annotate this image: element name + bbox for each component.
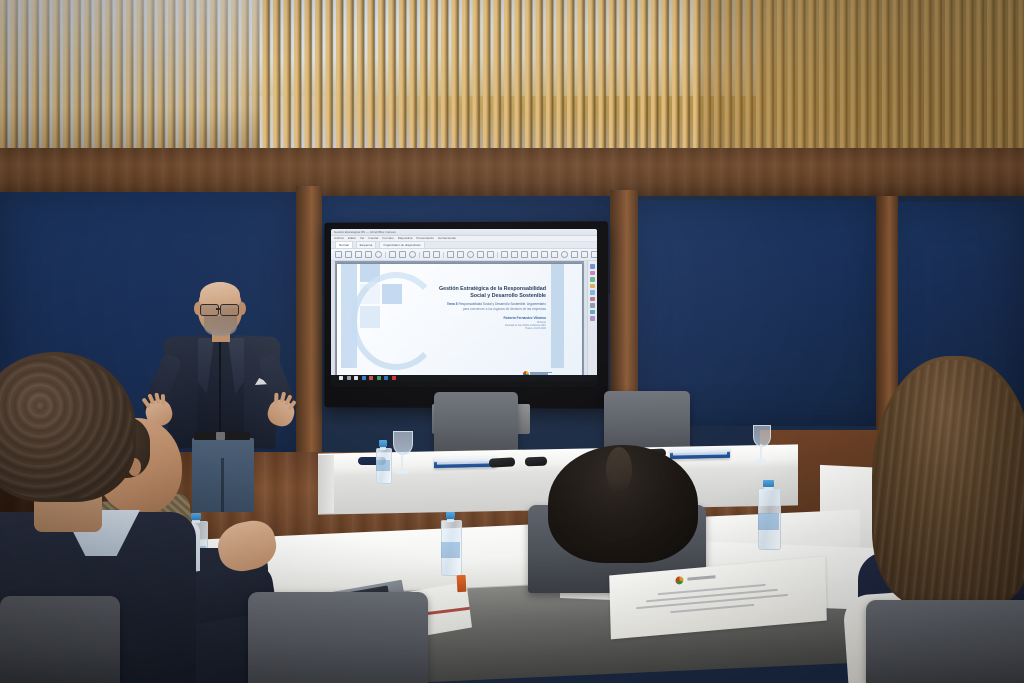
wine-glass-left: [392, 431, 412, 479]
view-tab-strip[interactable]: Normal Esquema Organizador de diapositiv…: [331, 242, 597, 249]
water-bottle-center: [441, 512, 460, 574]
presenter-ear-right: [238, 302, 246, 315]
menu-item-herramientas[interactable]: Herramientas: [438, 236, 456, 241]
cut-icon[interactable]: [389, 251, 396, 258]
chair-front-left: [248, 592, 428, 683]
water-bottle-right: [758, 480, 779, 548]
align-icon[interactable]: [571, 251, 578, 258]
bottle-cap: [446, 512, 456, 519]
arrange-icon[interactable]: [581, 251, 588, 258]
styles-icon[interactable]: [590, 290, 595, 295]
wood-grain-texture: [0, 148, 1024, 196]
name-plate-left: [434, 456, 496, 468]
print-preview-icon[interactable]: [375, 251, 382, 258]
shape-rectangle-icon[interactable]: [477, 251, 484, 258]
document-logo-text: [687, 575, 715, 580]
browser-icon[interactable]: [362, 376, 366, 380]
toolbar-separator-4: [497, 252, 498, 258]
save-icon[interactable]: [355, 251, 362, 258]
slide-subtitle-line1: Responsabilidad Social y Desarrollo Sost…: [458, 302, 546, 306]
print-icon[interactable]: [365, 251, 372, 258]
presenter-glasses-bridge: [216, 308, 221, 310]
panel-table-side: [318, 455, 334, 513]
window-title: Gestión Estratégica RS — LibreOffice Imp…: [334, 229, 396, 235]
slide-subtitle-line2: para convencer a los órganos de decisión…: [401, 307, 546, 312]
remote-control-1[interactable]: [489, 457, 515, 467]
slide-tema-label: Tema 8: [447, 302, 458, 306]
chair-front-right: [866, 600, 1024, 683]
current-slide[interactable]: Gestión Estratégica de la Responsabilida…: [337, 264, 582, 381]
impress-application-window[interactable]: Gestión Estratégica RS — LibreOffice Imp…: [331, 229, 597, 381]
tab-normal[interactable]: Normal: [335, 241, 353, 248]
insert-image-icon[interactable]: [457, 251, 464, 258]
pdf-icon[interactable]: [392, 376, 396, 380]
editing-area: Gestión Estratégica de la Responsabilida…: [331, 261, 597, 381]
master-slides-icon[interactable]: [590, 284, 595, 289]
fontwork-icon[interactable]: [531, 251, 538, 258]
wooden-slat-ceiling: [0, 0, 1024, 152]
toolbar-separator-2: [419, 252, 420, 258]
effects-icon[interactable]: [590, 316, 595, 321]
properties-icon[interactable]: [590, 264, 595, 269]
water-bottle-panel: [376, 440, 390, 482]
screen-display-area[interactable]: Gestión Estratégica RS — LibreOffice Imp…: [331, 229, 597, 387]
open-folder-icon[interactable]: [345, 251, 352, 258]
arrow-icon[interactable]: [501, 251, 508, 258]
presenter-glasses-right-lens: [220, 304, 239, 316]
file-explorer-icon[interactable]: [354, 376, 358, 380]
attendee-center: [548, 445, 698, 565]
tab-organizador[interactable]: Organizador de diapositivas: [379, 241, 424, 248]
glass-stem: [401, 452, 403, 471]
document-line-4: [670, 604, 754, 613]
table-icon[interactable]: [511, 251, 518, 258]
attendee-center-hair-part: [606, 447, 632, 493]
impress-sidebar[interactable]: [587, 261, 597, 381]
presenter-beard: [204, 316, 237, 336]
toolbar-separator-3: [443, 252, 444, 258]
shape-ellipse-icon[interactable]: [467, 251, 474, 258]
task-view-icon[interactable]: [347, 376, 351, 380]
glass-foot: [395, 470, 409, 474]
name-plate-left-text: [437, 461, 493, 465]
bottle-label: [758, 513, 778, 531]
glass-foot-2: [755, 459, 767, 463]
glass-bowl: [393, 431, 413, 455]
chart-icon[interactable]: [521, 251, 528, 258]
copy-icon[interactable]: [399, 251, 406, 258]
mail-icon[interactable]: [377, 376, 381, 380]
text-box-icon[interactable]: [447, 251, 454, 258]
attendee-right-hair-strands: [874, 360, 1024, 604]
tab-esquema[interactable]: Esquema: [356, 241, 377, 248]
redo-icon[interactable]: [433, 251, 440, 258]
slide-title-line1: Gestión Estratégica de la Responsabilida…: [401, 286, 546, 293]
main-toolbar[interactable]: [331, 249, 597, 261]
animation-icon[interactable]: [590, 277, 595, 282]
bottle-label: [441, 542, 459, 558]
chair-back-left: [434, 392, 518, 454]
slide-canvas[interactable]: Gestión Estratégica de la Responsabilida…: [335, 261, 584, 381]
presenter-glasses-left-lens: [200, 304, 219, 316]
wood-divider-1: [296, 186, 322, 476]
slide-title-line2: Social y Desarrollo Sostenible: [401, 293, 546, 300]
bottle-label: [376, 460, 389, 471]
chair-back-right: [604, 391, 690, 453]
toolbar-separator-1: [385, 252, 386, 258]
navigator-icon[interactable]: [590, 303, 595, 308]
chair-far-left: [0, 596, 120, 683]
os-taskbar[interactable]: [331, 375, 597, 381]
slide-text-block: Gestión Estratégica de la Responsabilida…: [401, 286, 546, 330]
slide-transition-icon[interactable]: [590, 271, 595, 276]
slide-date: Huelva, 04.03.2022: [401, 327, 546, 330]
remote-control-2[interactable]: [525, 457, 547, 467]
media-icon[interactable]: [369, 376, 373, 380]
fill-color-icon[interactable]: [551, 251, 558, 258]
gallery-icon[interactable]: [590, 297, 595, 302]
shapes-icon[interactable]: [590, 310, 595, 315]
slat-shadow-left: [0, 0, 260, 152]
shape-line-icon[interactable]: [487, 251, 494, 258]
paste-icon[interactable]: [409, 251, 416, 258]
wine-glass-right: [752, 425, 770, 467]
impress-icon[interactable]: [384, 376, 388, 380]
glass-bowl-2: [753, 425, 771, 447]
finger-r1: [274, 393, 278, 404]
bottle-cap: [763, 480, 774, 487]
new-document-icon[interactable]: [335, 251, 342, 258]
window-title-bar: Gestión Estratégica RS — LibreOffice Imp…: [331, 229, 597, 236]
bottle-cap: [379, 440, 386, 447]
undo-icon[interactable]: [423, 251, 430, 258]
slide-deco-band-right: [551, 264, 564, 368]
shadow-icon[interactable]: [561, 251, 568, 258]
line-color-icon[interactable]: [541, 251, 548, 258]
orange-marker: [457, 575, 467, 592]
glass-stem-2: [760, 444, 762, 460]
conference-room-photo: Gestión Estratégica RS — LibreOffice Imp…: [0, 0, 1024, 683]
start-slideshow-icon[interactable]: [591, 251, 597, 258]
slat-shadow-right: [700, 0, 1024, 152]
document-logo-icon: [675, 576, 683, 585]
start-menu-icon[interactable]: [339, 376, 343, 380]
